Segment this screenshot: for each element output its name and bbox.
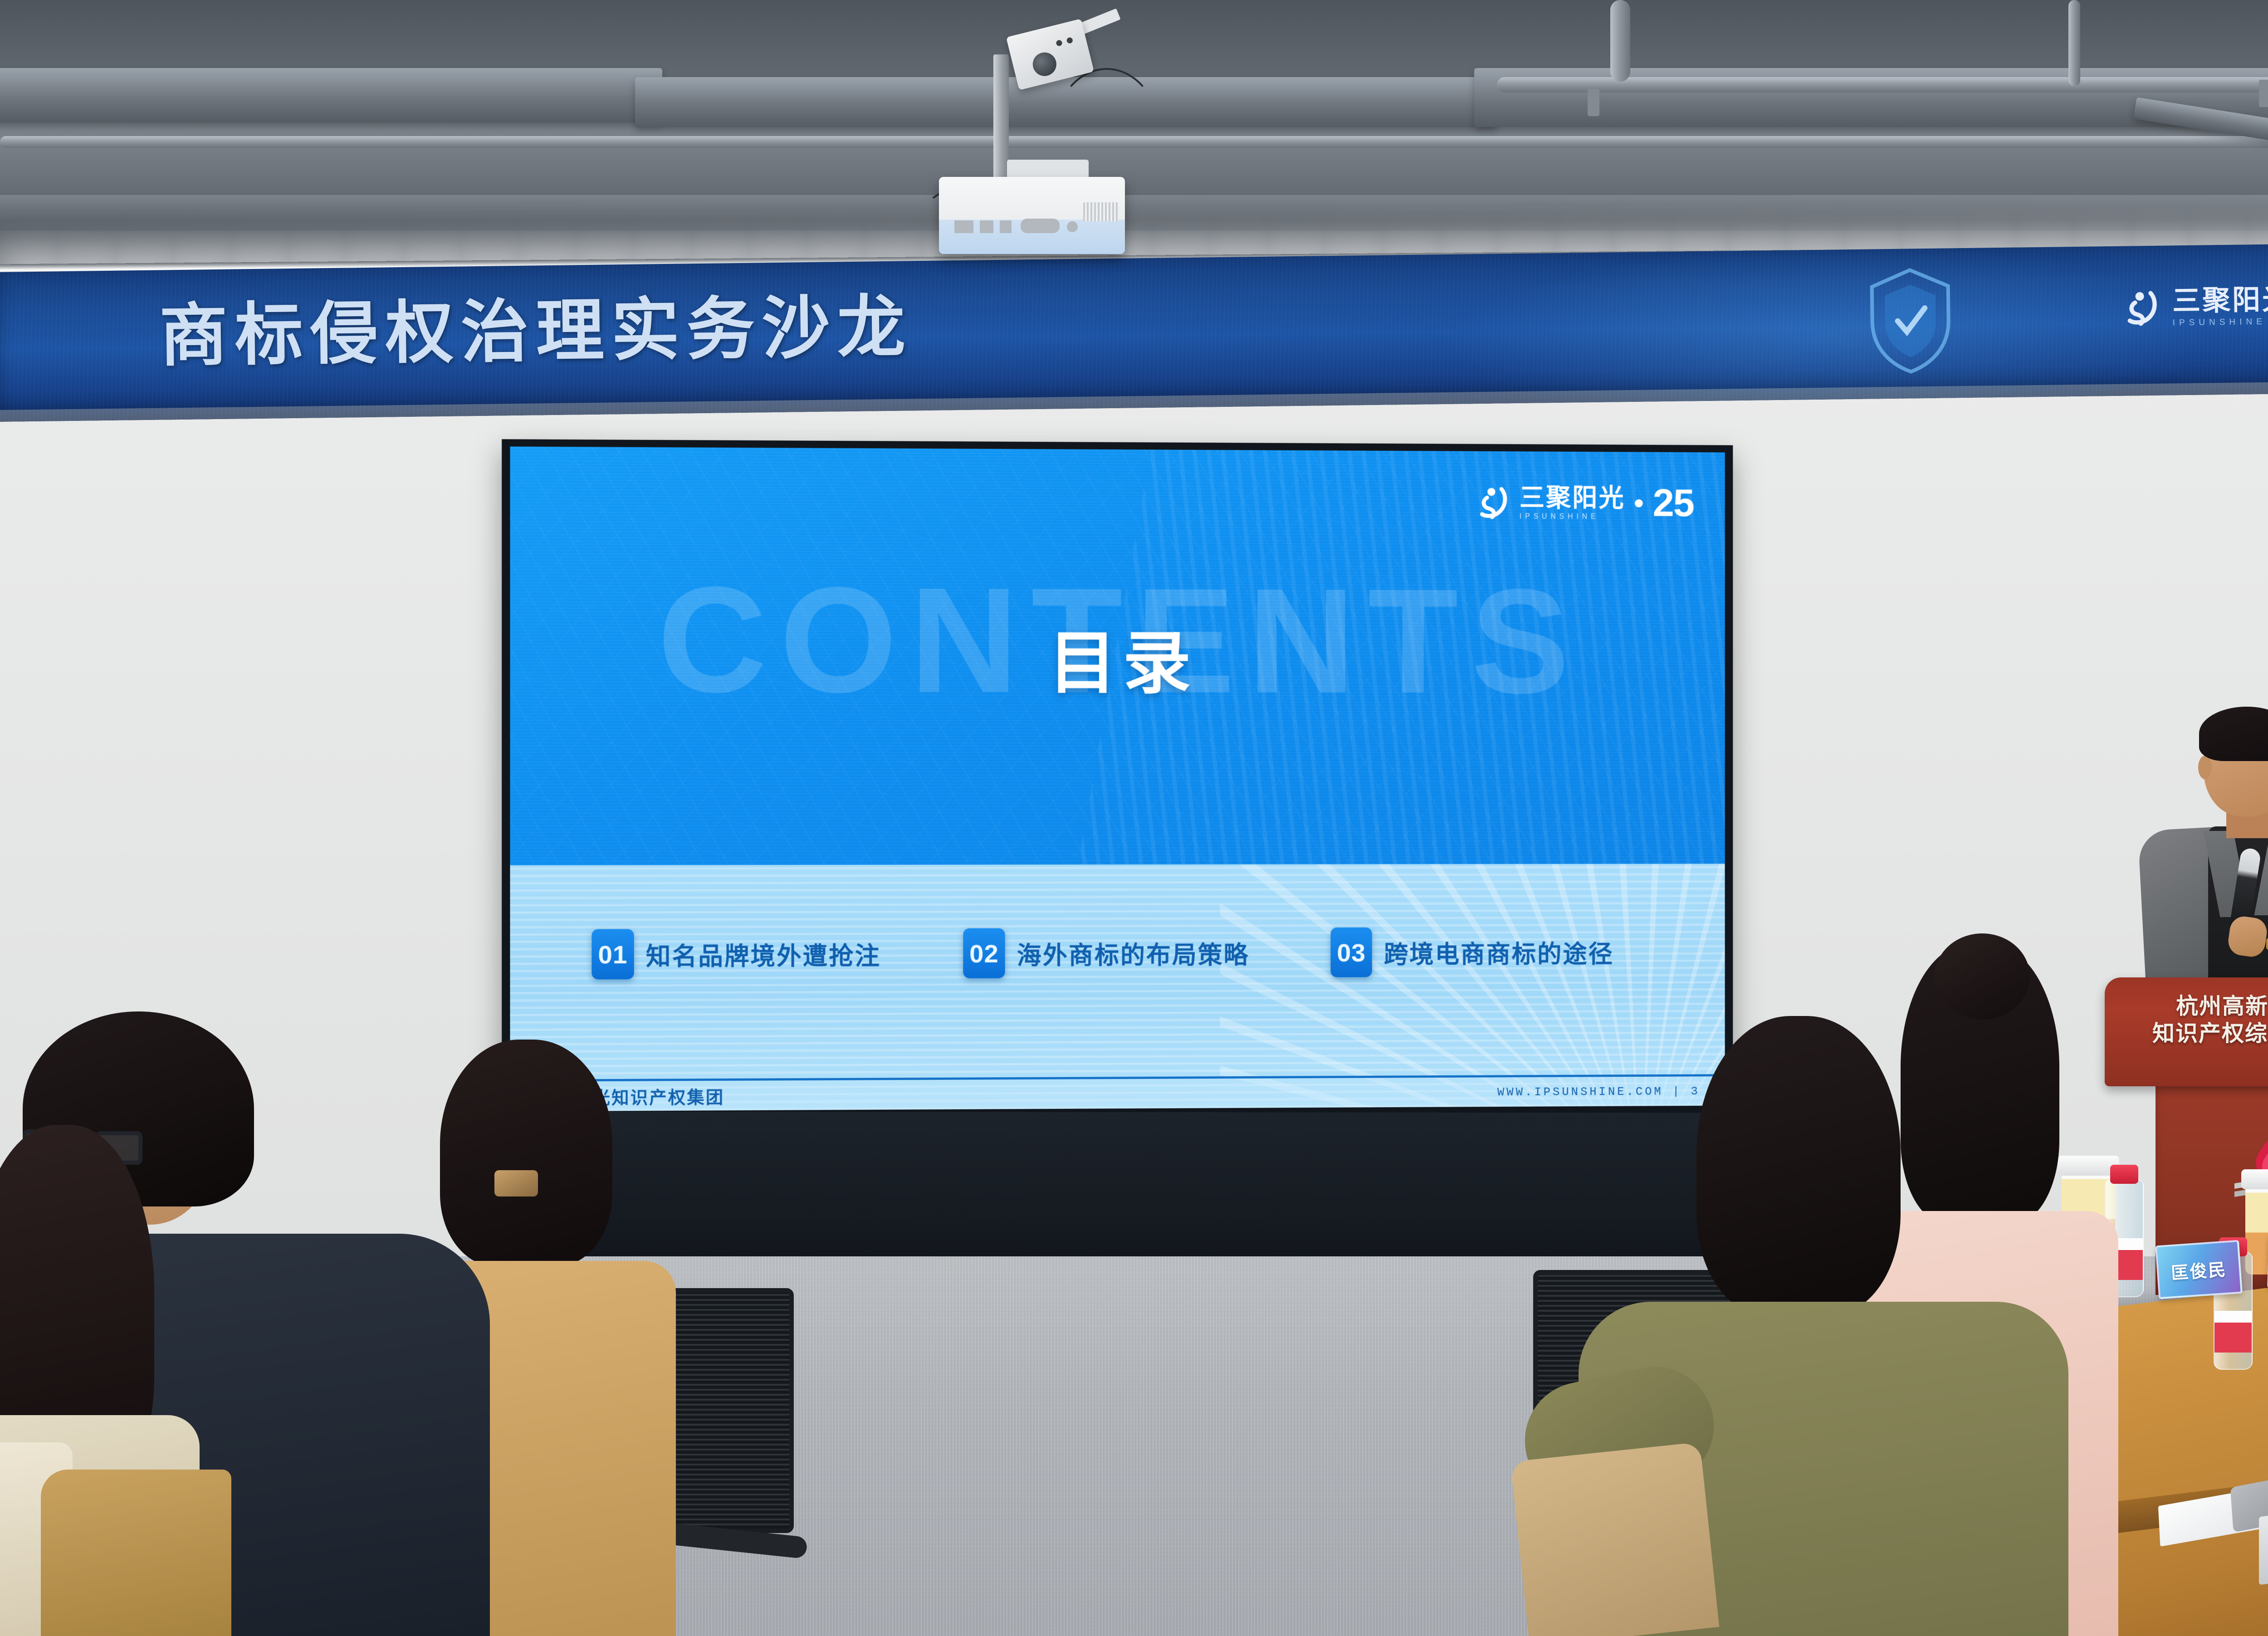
agenda-item-03: 03 跨境电商商标的途径	[1331, 927, 1614, 977]
draped-coat	[1510, 1442, 1720, 1636]
agenda-label-03: 跨境电商商标的途径	[1384, 934, 1614, 970]
slide-watermark: CONTENTS	[657, 553, 1582, 727]
ceiling-pipe-vertical	[1610, 0, 1630, 82]
anniversary-badge: 25	[1653, 486, 1694, 521]
podium-sign-text: 杭州高新区(滨江) 知识产权综合服务中心	[2105, 993, 2268, 1047]
slide-logo-name: 三聚阳光	[1520, 485, 1625, 511]
agenda-label-01: 知名品牌境外遭抢注	[646, 936, 881, 972]
banner-title: 商标侵权治理实务沙龙	[159, 272, 913, 379]
agenda-number-02: 02	[963, 928, 1005, 978]
podium-sign-board: 杭州高新区(滨江) 知识产权综合服务中心	[2105, 977, 2268, 1086]
agenda-list: 01 知名品牌境外遭抢注 02 海外商标的布局策略 03 跨境电商商标的途径	[510, 927, 1725, 980]
projector-mount-rod	[993, 54, 1009, 186]
person-hair	[1696, 1016, 1901, 1315]
slide-footer: 三聚阳光知识产权集团 WWW.IPSUNSHINE.COM | 3	[510, 1074, 1725, 1111]
projector-port-2	[980, 220, 993, 233]
agenda-item-02: 02 海外商标的布局策略	[963, 928, 1249, 979]
person-hair-bun	[1935, 933, 2030, 1020]
projector-port-3	[1000, 220, 1012, 233]
agenda-label-02: 海外商标的布局策略	[1017, 935, 1250, 971]
banner-logo: 三聚阳光 IPSUNSHINE	[2123, 286, 2268, 329]
sprinkler-head	[1588, 89, 1599, 116]
ceiling-pipe-drop	[2068, 0, 2080, 86]
name-card-text: 匡俊民	[2170, 1255, 2228, 1284]
slide-logo: 三聚阳光 IPSUNSHINE 25	[1476, 484, 1694, 521]
podium-sign-line2: 知识产权综合服务中心	[2105, 1020, 2268, 1047]
slide-title: 目录	[1048, 608, 1197, 707]
camera-led-1	[1056, 39, 1063, 47]
ceiling-beam	[0, 195, 2268, 221]
cup-lid	[2241, 1169, 2268, 1189]
ceiling-pipe-horizontal	[1497, 77, 2268, 93]
sprinkler-head-2	[2259, 80, 2268, 107]
presentation-slide: CONTENTS 目录 三聚阳光 IPSUNSHINE 25	[510, 446, 1725, 1111]
led-video-wall: CONTENTS 目录 三聚阳光 IPSUNSHINE 25	[502, 439, 1733, 1119]
agenda-item-01: 01 知名品牌境外遭抢注	[591, 928, 881, 979]
slide-header: CONTENTS 目录 三聚阳光 IPSUNSHINE 25	[510, 446, 1725, 865]
screen-skirt-panel	[512, 1112, 1736, 1263]
audience-woman-long-hair	[0, 1125, 227, 1636]
ipsunshine-logo-icon	[1476, 484, 1512, 521]
ceiling-projector	[939, 177, 1125, 254]
camera-led-2	[1066, 37, 1073, 44]
projector-port-audio	[1067, 221, 1078, 232]
projector-port-1	[954, 220, 973, 233]
slide-body: 01 知名品牌境外遭抢注 02 海外商标的布局策略 03 跨境电商商标的途径 三…	[510, 864, 1725, 1112]
shield-icon	[1864, 264, 1956, 378]
projector-vent	[1083, 202, 1119, 221]
speaker-watch	[2266, 938, 2268, 950]
projector-port-vga	[1021, 219, 1060, 233]
logo-separator-dot	[1635, 499, 1643, 508]
person-coat	[41, 1470, 231, 1636]
speaker-hair	[2199, 707, 2268, 761]
ipsunshine-logo-icon	[2123, 288, 2163, 328]
banner-logo-name: 三聚阳光	[2172, 286, 2268, 315]
speaker-ear-left	[2198, 756, 2212, 779]
agenda-number-03: 03	[1331, 928, 1372, 977]
event-banner: 商标侵权治理实务沙龙 三聚阳光 IPSUNSHINE	[0, 244, 2268, 422]
bottle-label	[2214, 1311, 2252, 1353]
name-card: 匡俊民	[2155, 1240, 2243, 1299]
agenda-number-01: 01	[591, 929, 634, 979]
podium-sign-line1: 杭州高新区(滨江)	[2105, 993, 2268, 1020]
camera-lens	[1030, 50, 1059, 78]
banner-logo-sub: IPSUNSHINE	[2173, 317, 2268, 328]
seminar-room-photo: 商标侵权治理实务沙龙 三聚阳光 IPSUNSHINE	[0, 0, 2268, 1636]
air-duct-left	[0, 68, 662, 122]
slide-logo-sub: IPSUNSHINE	[1520, 513, 1625, 521]
